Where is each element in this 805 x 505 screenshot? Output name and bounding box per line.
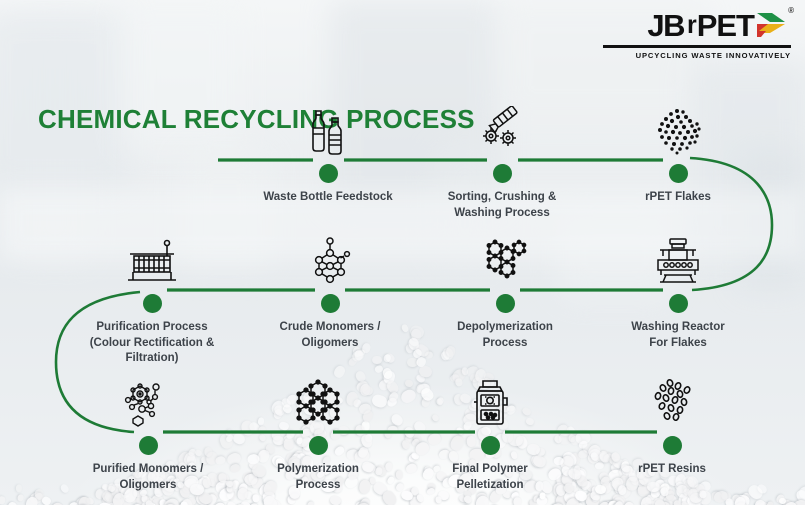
pelletizer-icon [405,372,575,430]
step-dot [139,436,158,455]
step-waste-bottle-feedstock[interactable]: Waste Bottle Feedstock [243,100,413,206]
step-dot [143,294,162,313]
filter-bed-icon [62,230,242,288]
step-dot [496,294,515,313]
step-label: Purification Process (Colour Rectificati… [62,320,242,367]
step-label: Purified Monomers / Oligomers [58,462,238,493]
step-dot [669,164,688,183]
step-polymerization-process[interactable]: Polymerization Process [233,372,403,493]
step-purification-process[interactable]: Purification Process (Colour Rectificati… [62,230,242,367]
step-rpet-resins[interactable]: rPET Resins [587,372,757,478]
step-dot [321,294,340,313]
step-label: Crude Monomers / Oligomers [245,320,415,351]
step-label: Washing Reactor For Flakes [593,320,763,351]
step-label: rPET Resins [587,462,757,478]
step-dot [669,294,688,313]
resin-pellets-icon [587,372,757,430]
step-dot [663,436,682,455]
step-label: rPET Flakes [593,190,763,206]
step-dot [493,164,512,183]
step-washing-reactor-for-flakes[interactable]: Washing Reactor For Flakes [593,230,763,351]
step-label: Final Polymer Pelletization [405,462,575,493]
step-rpet-flakes[interactable]: rPET Flakes [593,100,763,206]
step-dot [481,436,500,455]
crushing-icon [417,100,587,158]
reactor-icon [593,230,763,288]
flakes-icon [593,100,763,158]
step-purified-monomers-oligomers[interactable]: Purified Monomers / Oligomers [58,372,238,493]
step-label: Waste Bottle Feedstock [243,190,413,206]
molecule-chain-icon [245,230,415,288]
step-label: Sorting, Crushing & Washing Process [417,190,587,221]
step-final-polymer-pelletization[interactable]: Final Polymer Pelletization [405,372,575,493]
step-label: Polymerization Process [233,462,403,493]
polymer-hex-icon [233,372,403,430]
step-dot [319,164,338,183]
step-dot [309,436,328,455]
step-label: Depolymerization Process [420,320,590,351]
molecule-cluster-icon [420,230,590,288]
bottles-icon [243,100,413,158]
step-depolymerization-process[interactable]: Depolymerization Process [420,230,590,351]
step-sorting-crushing-washing[interactable]: Sorting, Crushing & Washing Process [417,100,587,221]
step-crude-monomers-oligomers[interactable]: Crude Monomers / Oligomers [245,230,415,351]
purified-molecule-icon [58,372,238,430]
